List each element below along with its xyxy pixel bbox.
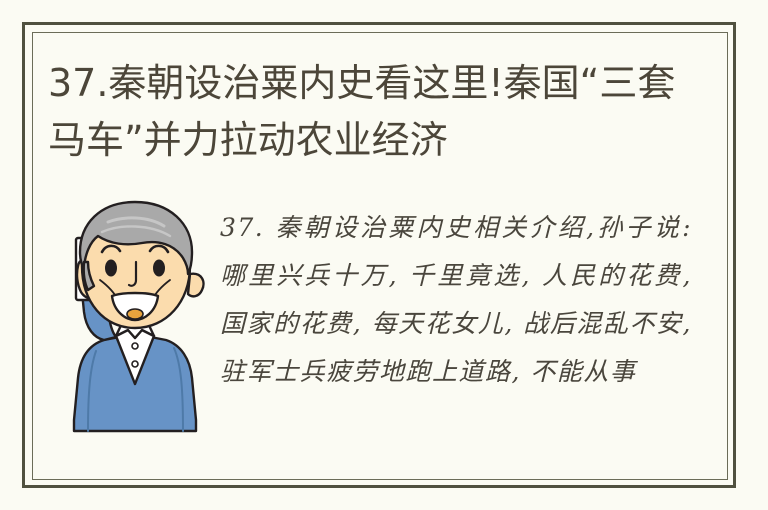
elderly-man-on-phone-illustration [50, 188, 220, 438]
content-row: 37. 秦朝设治粟内史相关介绍,孙子说: 哪里兴兵十万, 千里竟选, 人民的花费… [40, 188, 730, 473]
page-title: 37.秦朝设治粟内史看这里!秦国“三套马车”并力拉动农业经济 [48, 55, 708, 169]
article-card: 37.秦朝设治粟内史看这里!秦国“三套马车”并力拉动农业经济 [0, 0, 768, 510]
article-body-text: 37. 秦朝设治粟内史相关介绍,孙子说: 哪里兴兵十万, 千里竟选, 人民的花费… [220, 204, 692, 396]
